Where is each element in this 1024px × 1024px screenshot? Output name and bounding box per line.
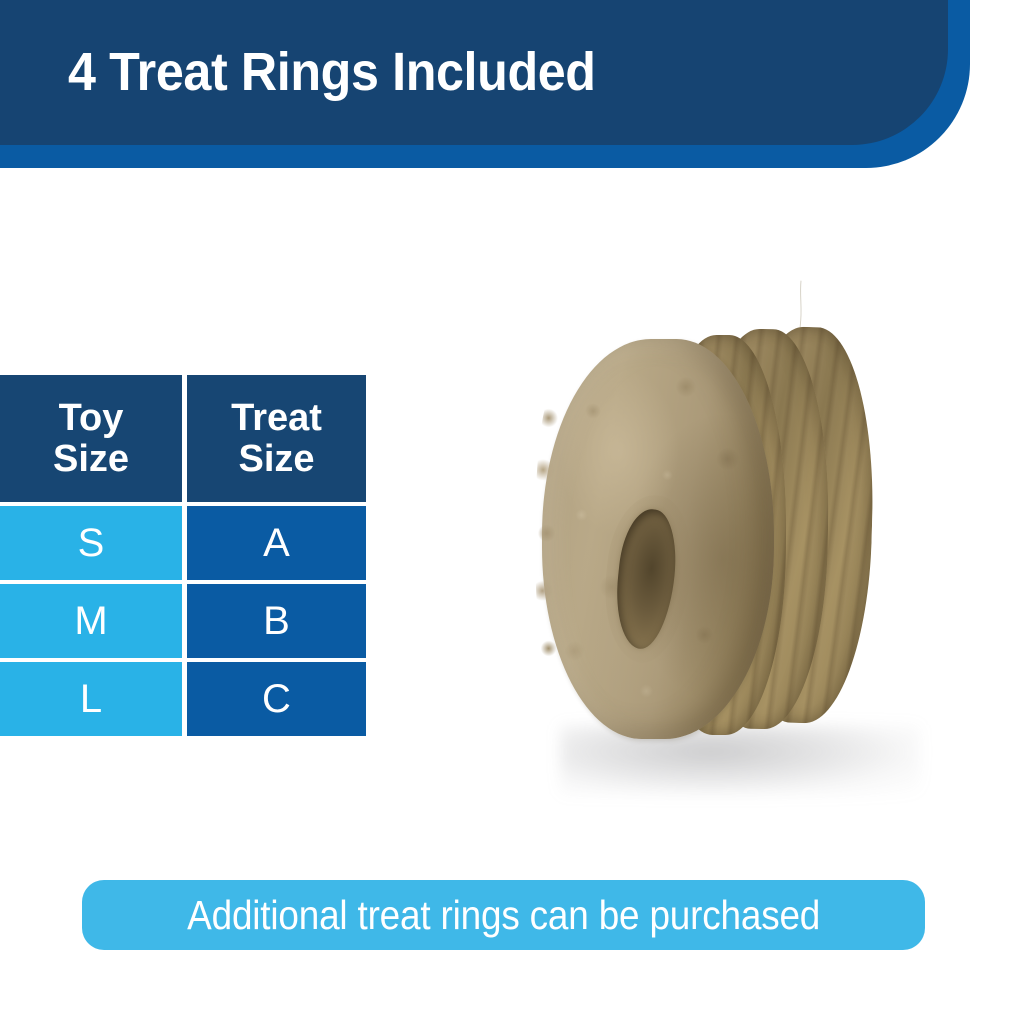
table-cell-treat-size: A: [187, 506, 366, 580]
table-cell-treat-size: B: [187, 584, 366, 658]
treat-rings-product-photo: [500, 255, 930, 815]
table-header-toy-size-line2: Size: [53, 439, 129, 480]
infographic-canvas: 4 Treat Rings Included Toy Size Treat Si…: [0, 0, 1024, 1024]
table-cell-toy-size: L: [0, 662, 182, 736]
page-title: 4 Treat Rings Included: [68, 43, 596, 101]
footer-note-pill: Additional treat rings can be purchased: [82, 880, 925, 950]
table-header-row: Toy Size Treat Size: [0, 375, 366, 502]
table-row: M B: [0, 584, 366, 658]
size-chart-table: Toy Size Treat Size S A M B L: [0, 375, 366, 736]
table-header-treat-size-line1: Treat: [231, 398, 322, 439]
table-header-treat-size: Treat Size: [187, 375, 366, 502]
table-header-treat-size-line2: Size: [238, 439, 314, 480]
table-header-toy-size-line1: Toy: [59, 398, 124, 439]
footer-note-text: Additional treat rings can be purchased: [187, 893, 820, 937]
table-cell-toy-size: M: [0, 584, 182, 658]
table-header-toy-size: Toy Size: [0, 375, 182, 502]
table-cell-toy-size: S: [0, 506, 182, 580]
header-banner: 4 Treat Rings Included: [0, 0, 1024, 175]
table-cell-treat-size: C: [187, 662, 366, 736]
treat-ring-stack: [500, 255, 930, 775]
table-row: L C: [0, 662, 366, 736]
table-row: S A: [0, 506, 366, 580]
